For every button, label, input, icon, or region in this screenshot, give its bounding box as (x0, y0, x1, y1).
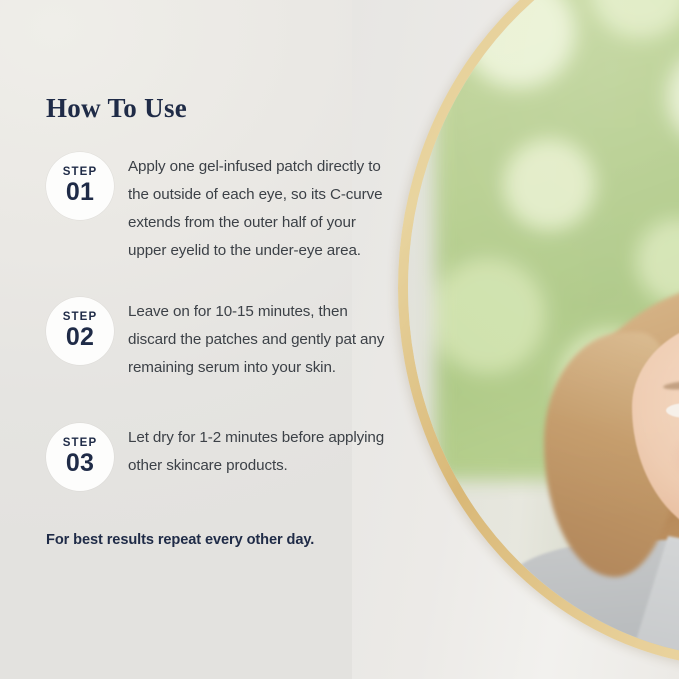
step-badge: STEP 02 (46, 297, 114, 365)
step-item: STEP 01 Apply one gel-infused patch dire… (46, 152, 386, 265)
step-badge: STEP 01 (46, 152, 114, 220)
step-description: Apply one gel-infused patch directly to … (128, 153, 386, 265)
step-badge: STEP 03 (46, 423, 114, 491)
round-mirror-frame (398, 0, 679, 668)
step-description: Leave on for 10-15 minutes, then discard… (128, 298, 386, 382)
step-description: Let dry for 1-2 minutes before applying … (128, 424, 386, 480)
mirror-glass (408, 0, 679, 658)
instructions-column: How To Use STEP 01 Apply one gel-infused… (0, 0, 400, 679)
lifestyle-photo (352, 0, 679, 679)
step-item: STEP 03 Let dry for 1-2 minutes before a… (46, 423, 386, 491)
step-badge-number: 03 (66, 451, 94, 476)
woman-figure (408, 0, 679, 658)
step-badge-number: 01 (66, 180, 94, 205)
page-title: How To Use (46, 93, 187, 124)
step-badge-number: 02 (66, 325, 94, 350)
footer-note: For best results repeat every other day. (46, 532, 314, 548)
step-item: STEP 02 Leave on for 10-15 minutes, then… (46, 297, 386, 382)
mirror-reflection-scene (408, 0, 679, 658)
how-to-use-panel: How To Use STEP 01 Apply one gel-infused… (0, 0, 679, 679)
